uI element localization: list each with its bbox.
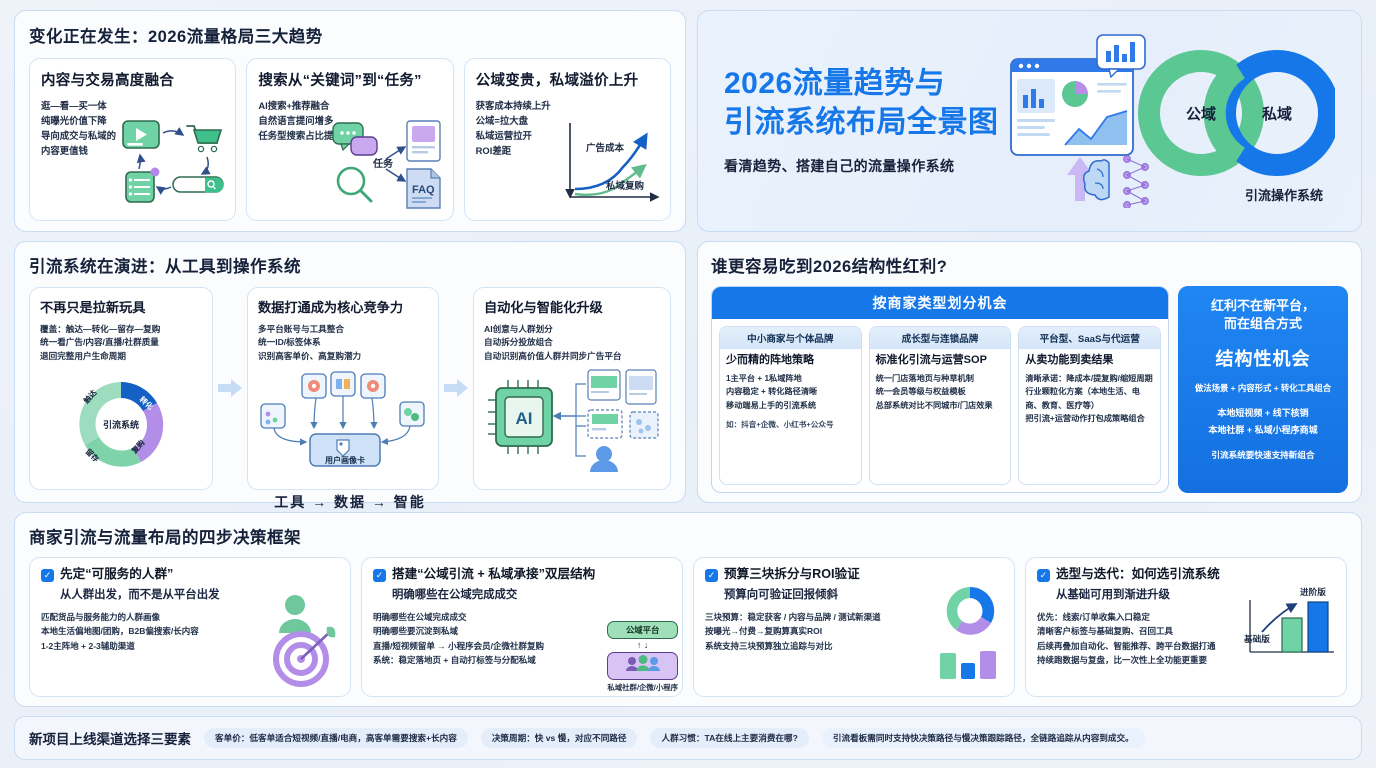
bonus-panel: 谁更容易吃到2026结构性红利? 按商家类型划分机会 中小商家与个体品牌 少而精… xyxy=(697,241,1362,503)
evolution-flow-caption: 工具 → 数据 → 智能 xyxy=(29,492,671,512)
bonus-title: 谁更容易吃到2026结构性红利? xyxy=(711,253,1348,277)
steps-title: 商家引流与流量布局的四步决策框架 xyxy=(29,524,1347,548)
ring-right-label: 私域 xyxy=(1261,105,1292,123)
highlight-heading: 红利不在新平台， 而在组合方式 xyxy=(1187,297,1339,334)
footer-pill-cycle[interactable]: 决策周期：快 vs 慢，对应不同路径 xyxy=(481,728,638,748)
evolution-card-title: 数据打通成为核心竞争力 xyxy=(258,297,428,316)
line: 退回完整用户生命周期 xyxy=(40,350,202,364)
highlight-heading-line2: 而在组合方式 xyxy=(1187,315,1339,333)
line: 统一门店落地页与种草机制 xyxy=(876,372,1005,385)
check-icon: ✓ xyxy=(373,569,386,582)
evolution-card-list: 不再只是拉新玩具 覆盖：触达—转化—留存—复购 统一看广告/内容/直播/社群质量… xyxy=(29,287,671,491)
step-card-budget[interactable]: ✓ 预算三块拆分与ROI验证 预算向可验证回报倾斜 三块预算：稳定获客 / 内容… xyxy=(693,557,1015,698)
private-label: 私域社群/企微/小程序 xyxy=(607,682,678,693)
wheel-center-label: 引流系统 xyxy=(103,419,139,430)
merchant-col-head: 中小商家与个体品牌 xyxy=(720,327,861,349)
cart-icon xyxy=(187,126,221,152)
private-users-box xyxy=(607,652,678,680)
step-card-audience[interactable]: ✓ 先定“可服务的人群” 从人群出发，而不是从平台出发 匹配货品与服务能力的人群… xyxy=(29,557,351,698)
search-pill-icon xyxy=(173,177,224,193)
chip-label: AI xyxy=(516,409,533,428)
merchant-col-body: 少而精的阵地策略 1主平台 + 1私域阵地 内容稳定 + 转化路径清晰 移动端易… xyxy=(720,349,861,435)
line: 逛—看—买一体 xyxy=(41,99,147,114)
donut-chart-icon xyxy=(930,581,1008,690)
line: 系统支持三块预算独立追踪与对比 xyxy=(705,639,926,654)
hero-illustration: 公域 私域 引流操作系统 xyxy=(1005,33,1335,208)
merchant-col-body: 从卖功能到卖结果 清晰承诺：降成本/提复购/缩短周期 行业颗粒化方案（本地生活、… xyxy=(1019,349,1160,430)
merchant-col-sme[interactable]: 中小商家与个体品牌 少而精的阵地策略 1主平台 + 1私域阵地 内容稳定 + 转… xyxy=(719,326,862,485)
row-evolution-bonus: 引流系统在演进：从工具到操作系统 不再只是拉新玩具 覆盖：触达—转化—留存—复购… xyxy=(14,241,1362,503)
step-card-system-selection[interactable]: ✓ 选型与迭代：如何选引流系统 从基础可用到渐进升级 优先：线索/订单收集入口稳… xyxy=(1025,557,1347,698)
footer-pill-habit[interactable]: 人群习惯：TA在线上主要消费在哪? xyxy=(650,728,808,748)
line: 统一看广告/内容/直播/社群质量 xyxy=(40,336,202,350)
combo-item: 本地短视频 + 线下核销 xyxy=(1187,405,1339,422)
footer-pill-price[interactable]: 客单价：低客单适合短视频/直播/电商，高客单需要搜索+长内容 xyxy=(204,728,468,748)
trend-card-title: 公域变贵，私域溢价上升 xyxy=(476,69,659,90)
merchant-col-title: 少而精的阵地策略 xyxy=(726,354,855,368)
merchant-col-growth[interactable]: 成长型与连锁品牌 标准化引流与运营SOP 统一门店落地页与种草机制 统一会员等级… xyxy=(869,326,1012,485)
line: 移动端易上手的引流系统 xyxy=(726,399,855,412)
line: 统一会员等级与权益模板 xyxy=(876,385,1005,398)
evolution-card-title: 不再只是拉新玩具 xyxy=(40,297,202,316)
document-icon xyxy=(407,121,440,161)
bonus-body: 按商家类型划分机会 中小商家与个体品牌 少而精的阵地策略 1主平台 + 1私域阵… xyxy=(711,286,1348,493)
evolution-panel: 引流系统在演进：从工具到操作系统 不再只是拉新玩具 覆盖：触达—转化—留存—复购… xyxy=(14,241,686,503)
step-header: ✓ 预算三块拆分与ROI验证 xyxy=(705,567,1003,582)
merchant-col-example: 如：抖音+企微、小红书+公众号 xyxy=(726,419,855,430)
highlight-big-label: 结构性机会 xyxy=(1187,345,1339,371)
hero-text: 2026流量趋势与 引流系统布局全景图 看清趋势、搭建自己的流量操作系统 xyxy=(724,65,999,176)
merchant-col-lines: 清晰承诺：降成本/提复购/缩短周期 行业颗粒化方案（本地生活、电商、教育、医疗等… xyxy=(1025,372,1154,425)
step-card-list: ✓ 先定“可服务的人群” 从人群出发，而不是从平台出发 匹配货品与服务能力的人群… xyxy=(29,557,1347,698)
bar-high-label: 进阶版 xyxy=(1300,586,1326,597)
line: 多平台账号与工具整合 xyxy=(258,323,428,337)
steps-panel: 商家引流与流量布局的四步决策框架 ✓ 先定“可服务的人群” 从人群出发，而不是从… xyxy=(14,512,1362,708)
trend-card-title: 内容与交易高度融合 xyxy=(41,69,224,90)
updown-arrow-icon: ↑ ↓ xyxy=(607,641,678,650)
evolution-card-data[interactable]: 数据打通成为核心竞争力 多平台账号与工具整合 统一ID/标签体系 识别高客单价、… xyxy=(247,287,439,491)
evolution-arrow-1 xyxy=(217,287,243,491)
highlight-heading-line1: 红利不在新平台， xyxy=(1187,297,1339,315)
faq-doc-icon: FAQ xyxy=(407,169,440,208)
step-title: 选型与迭代：如何选引流系统 xyxy=(1056,567,1220,582)
ad-cost-label: 广告成本 xyxy=(586,142,625,154)
chat-bubble-icon xyxy=(333,123,377,155)
highlight-combos: 本地短视频 + 线下核销 本地社群 + 私域小程序商城 xyxy=(1187,405,1339,438)
evolution-card-lines: AI创意与人群划分 自动拆分投放组合 自动识别高价值人群并同步广告平台 xyxy=(484,323,660,365)
page-title: 2026流量趋势与 引流系统布局全景图 xyxy=(724,65,999,142)
row-steps: 商家引流与流量布局的四步决策框架 ✓ 先定“可服务的人群” 从人群出发，而不是从… xyxy=(14,512,1362,708)
ring-left-label: 公域 xyxy=(1186,105,1216,123)
evolution-card-title: 自动化与智能化升级 xyxy=(484,297,660,316)
hub-label: 用户画像卡 xyxy=(324,455,365,465)
merchant-col-lines: 1主平台 + 1私域阵地 内容稳定 + 转化路径清晰 移动端易上手的引流系统 xyxy=(726,372,855,411)
line: 覆盖：触达—转化—留存—复购 xyxy=(40,323,202,337)
merchant-col-head: 成长型与连锁品牌 xyxy=(870,327,1011,349)
line: 直播/短视频留单 → 小程序会员/企微社群复购 xyxy=(373,639,588,654)
merchant-table-header: 按商家类型划分机会 xyxy=(712,287,1168,319)
trend-card-content-commerce[interactable]: 内容与交易高度融合 逛—看—买一体 纯曝光价值下降 导向成交与私域的 内容更值钱 xyxy=(29,58,236,221)
line: 明确哪些在公域完成成交 xyxy=(373,610,588,625)
line: 统一ID/标签体系 xyxy=(258,336,428,350)
line: 系统：稳定落地页 + 自动打标签与分配私域 xyxy=(373,653,588,668)
line: 获客成本持续上升 xyxy=(476,99,582,114)
structural-opportunity-card: 红利不在新平台， 而在组合方式 结构性机会 做法场景 + 内容形式 + 转化工具… xyxy=(1178,286,1348,493)
hero-subtitle: 看清趋势、搭建自己的流量操作系统 xyxy=(724,156,999,176)
trend-card-title: 搜索从“关键词”到“任务” xyxy=(258,69,441,90)
merchant-opportunity-table: 按商家类型划分机会 中小商家与个体品牌 少而精的阵地策略 1主平台 + 1私域阵… xyxy=(711,286,1169,493)
infographic-page: 变化正在发生：2026流量格局三大趋势 内容与交易高度融合 逛—看—买一体 纯曝… xyxy=(0,0,1376,768)
trends-title: 变化正在发生：2026流量格局三大趋势 xyxy=(29,23,671,47)
output-cards xyxy=(588,370,658,472)
highlight-closing: 引流系统要快速支持新组合 xyxy=(1187,449,1339,462)
public-private-rings: 公域 私域 xyxy=(1149,61,1329,165)
ai-chip-icon: AI xyxy=(484,368,660,480)
merchant-col-platform[interactable]: 平台型、SaaS与代运营 从卖功能到卖结果 清晰承诺：降成本/提复购/缩短周期 … xyxy=(1018,326,1161,485)
public-private-icon: 公域平台 ↑ ↓ 私域社群/企微/小程序 xyxy=(607,621,678,693)
line-chart-icon: 广告成本 私域复购 xyxy=(560,117,664,214)
line: 行业颗粒化方案（本地生活、电商、教育、医疗等） xyxy=(1025,385,1154,411)
line: AI搜索+推荐融合 xyxy=(258,99,364,114)
os-label: 引流操作系统 xyxy=(1245,185,1323,204)
line: 明确哪些要沉淀到私域 xyxy=(373,624,588,639)
merchant-col-title: 从卖功能到卖结果 xyxy=(1025,354,1154,368)
target-person-icon xyxy=(261,591,345,692)
step-title: 先定“可服务的人群” xyxy=(60,567,173,582)
line: 自动识别高价值人群并同步广告平台 xyxy=(484,350,660,364)
step-title: 预算三块拆分与ROI验证 xyxy=(724,567,860,582)
step-header: ✓ 搭建“公域引流 + 私域承接”双层结构 xyxy=(373,567,671,582)
line: 清晰承诺：降成本/提复购/缩短周期 xyxy=(1025,372,1154,385)
step-card-structure[interactable]: ✓ 搭建“公域引流 + 私域承接”双层结构 明确哪些在公域完成成交 明确哪些在公… xyxy=(361,557,683,698)
magnifier-icon xyxy=(338,168,371,201)
hero-panel: 2026流量趋势与 引流系统布局全景图 看清趋势、搭建自己的流量操作系统 xyxy=(697,10,1362,232)
check-icon: ✓ xyxy=(705,569,718,582)
step-subtitle: 明确哪些在公域完成成交 xyxy=(392,586,671,602)
highlight-formula: 做法场景 + 内容形式 + 转化工具组合 xyxy=(1187,382,1339,395)
evolution-arrow-2 xyxy=(443,287,469,491)
merchant-col-title: 标准化引流与运营SOP xyxy=(876,354,1005,368)
hero-title-line1: 2026流量趋势与 xyxy=(724,65,999,103)
merchant-columns: 中小商家与个体品牌 少而精的阵地策略 1主平台 + 1私域阵地 内容稳定 + 转… xyxy=(712,319,1168,492)
line: 把引流+运营动作打包成策略组合 xyxy=(1025,412,1154,425)
step-lines: 三块预算：稳定获客 / 内容与品牌 / 测试新渠道 按曝光→付费→复购算真实RO… xyxy=(705,610,926,654)
merchant-col-head: 平台型、SaaS与代运营 xyxy=(1019,327,1160,349)
data-hub-icon: 用户画像卡 xyxy=(258,370,428,474)
content-commerce-loop-art xyxy=(119,117,229,214)
footer-bar: 新项目上线渠道选择三要素 客单价：低客单适合短视频/直播/电商，高客单需要搜索+… xyxy=(14,716,1362,760)
growth-bars-icon: 基础版 进阶版 xyxy=(1238,580,1342,665)
line: AI创意与人群划分 xyxy=(484,323,660,337)
step-header: ✓ 先定“可服务的人群” xyxy=(41,567,339,582)
line: 内容稳定 + 转化路径清晰 xyxy=(726,385,855,398)
evolution-card-not-toy[interactable]: 不再只是拉新玩具 覆盖：触达—转化—留存—复购 统一看广告/内容/直播/社群质量… xyxy=(29,287,213,491)
row-trends-hero: 变化正在发生：2026流量格局三大趋势 内容与交易高度融合 逛—看—买一体 纯曝… xyxy=(14,10,1362,232)
combo-item: 本地社群 + 私域小程序商城 xyxy=(1187,422,1339,439)
footer-title: 新项目上线渠道选择三要素 xyxy=(29,728,191,748)
line: 自动拆分投放组合 xyxy=(484,336,660,350)
trend-card-public-private-cost[interactable]: 公域变贵，私域溢价上升 获客成本持续上升 公域=拉大盘 私域运营拉开 ROI差距 xyxy=(464,58,671,221)
faq-label: FAQ xyxy=(412,184,435,196)
trend-card-search-task[interactable]: 搜索从“关键词”到“任务” AI搜索+推荐融合 自然语言提问增多 任务型搜索占比… xyxy=(246,58,453,221)
line: 三块预算：稳定获客 / 内容与品牌 / 测试新渠道 xyxy=(705,610,926,625)
bar-low-label: 基础版 xyxy=(1243,633,1270,644)
merchant-col-lines: 统一门店落地页与种草机制 统一会员等级与权益模板 总部系统对比不同城市/门店效果 xyxy=(876,372,1005,411)
search-task-art: 任务 FAQ xyxy=(329,117,447,214)
evolution-card-lines: 多平台账号与工具整合 统一ID/标签体系 识别高客单价、高复购潜力 xyxy=(258,323,428,365)
list-icon xyxy=(126,167,160,202)
check-icon: ✓ xyxy=(41,569,54,582)
task-art-label: 任务 xyxy=(372,157,394,170)
line: 1主平台 + 1私域阵地 xyxy=(726,372,855,385)
line: 总部系统对比不同城市/门店效果 xyxy=(876,399,1005,412)
public-platform-chip: 公域平台 xyxy=(607,621,678,639)
lifecycle-wheel-icon: 引流系统 触达 转化 复购 留存 xyxy=(40,368,202,480)
hero-title-line2: 引流系统布局全景图 xyxy=(724,104,999,142)
evolution-title: 引流系统在演进：从工具到操作系统 xyxy=(29,253,671,277)
line: 识别高客单价、高复购潜力 xyxy=(258,350,428,364)
trend-card-list: 内容与交易高度融合 逛—看—买一体 纯曝光价值下降 导向成交与私域的 内容更值钱 xyxy=(29,58,671,221)
check-icon: ✓ xyxy=(1037,569,1050,582)
step-title: 搭建“公域引流 + 私域承接”双层结构 xyxy=(392,567,595,582)
video-icon xyxy=(123,121,159,148)
private-repeat-label: 私域复购 xyxy=(605,180,645,192)
merchant-col-body: 标准化引流与运营SOP 统一门店落地页与种草机制 统一会员等级与权益模板 总部系… xyxy=(870,349,1011,417)
evolution-card-lines: 覆盖：触达—转化—留存—复购 统一看广告/内容/直播/社群质量 退回完整用户生命… xyxy=(40,323,202,365)
evolution-card-ai[interactable]: 自动化与智能化升级 AI创意与人群划分 自动拆分投放组合 自动识别高价值人群并同… xyxy=(473,287,671,491)
trends-panel: 变化正在发生：2026流量格局三大趋势 内容与交易高度融合 逛—看—买一体 纯曝… xyxy=(14,10,686,232)
ai-brain-icon xyxy=(1084,156,1149,208)
footer-pill-dashboard[interactable]: 引流看板需同时支持快决策路径与慢决策跟踪路径，全链路追踪从内容到成交。 xyxy=(822,728,1145,748)
line: 按曝光→付费→复购算真实ROI xyxy=(705,624,926,639)
step-lines: 明确哪些在公域完成成交 明确哪些要沉淀到私域 直播/短视频留单 → 小程序会员/… xyxy=(373,610,588,668)
